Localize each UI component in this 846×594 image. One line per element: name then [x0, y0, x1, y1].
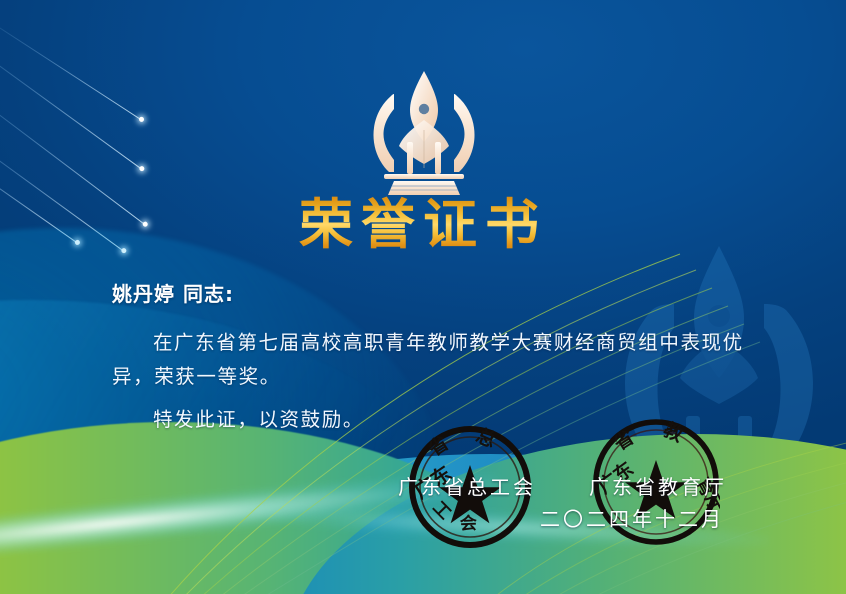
pen-nib-laurel-emblem: [358, 68, 490, 200]
shooting-star-icon: [0, 22, 142, 169]
body-paragraph-1: 在广东省第七届高校高职青年教师教学大赛财经商贸组中表现优异，荣获一等奖。: [112, 326, 752, 394]
certificate-canvas: 荣誉证书 姚丹婷 同志: 在广东省第七届高校高职青年教师教学大赛财经商贸组中表现…: [0, 0, 846, 594]
signature-date: 二〇二四年十二月: [540, 503, 724, 532]
shooting-star-icon: [0, 8, 142, 120]
page-title: 荣誉证书: [0, 196, 846, 253]
signature-org-left: 广东省总工会: [398, 471, 536, 500]
signature-org-right: 广东省教育厅: [589, 471, 727, 500]
recipient-name: 姚丹婷 同志:: [112, 278, 234, 307]
svg-text:省 教: 省 教: [609, 418, 696, 456]
svg-text:省 总: 省 总: [424, 425, 508, 461]
